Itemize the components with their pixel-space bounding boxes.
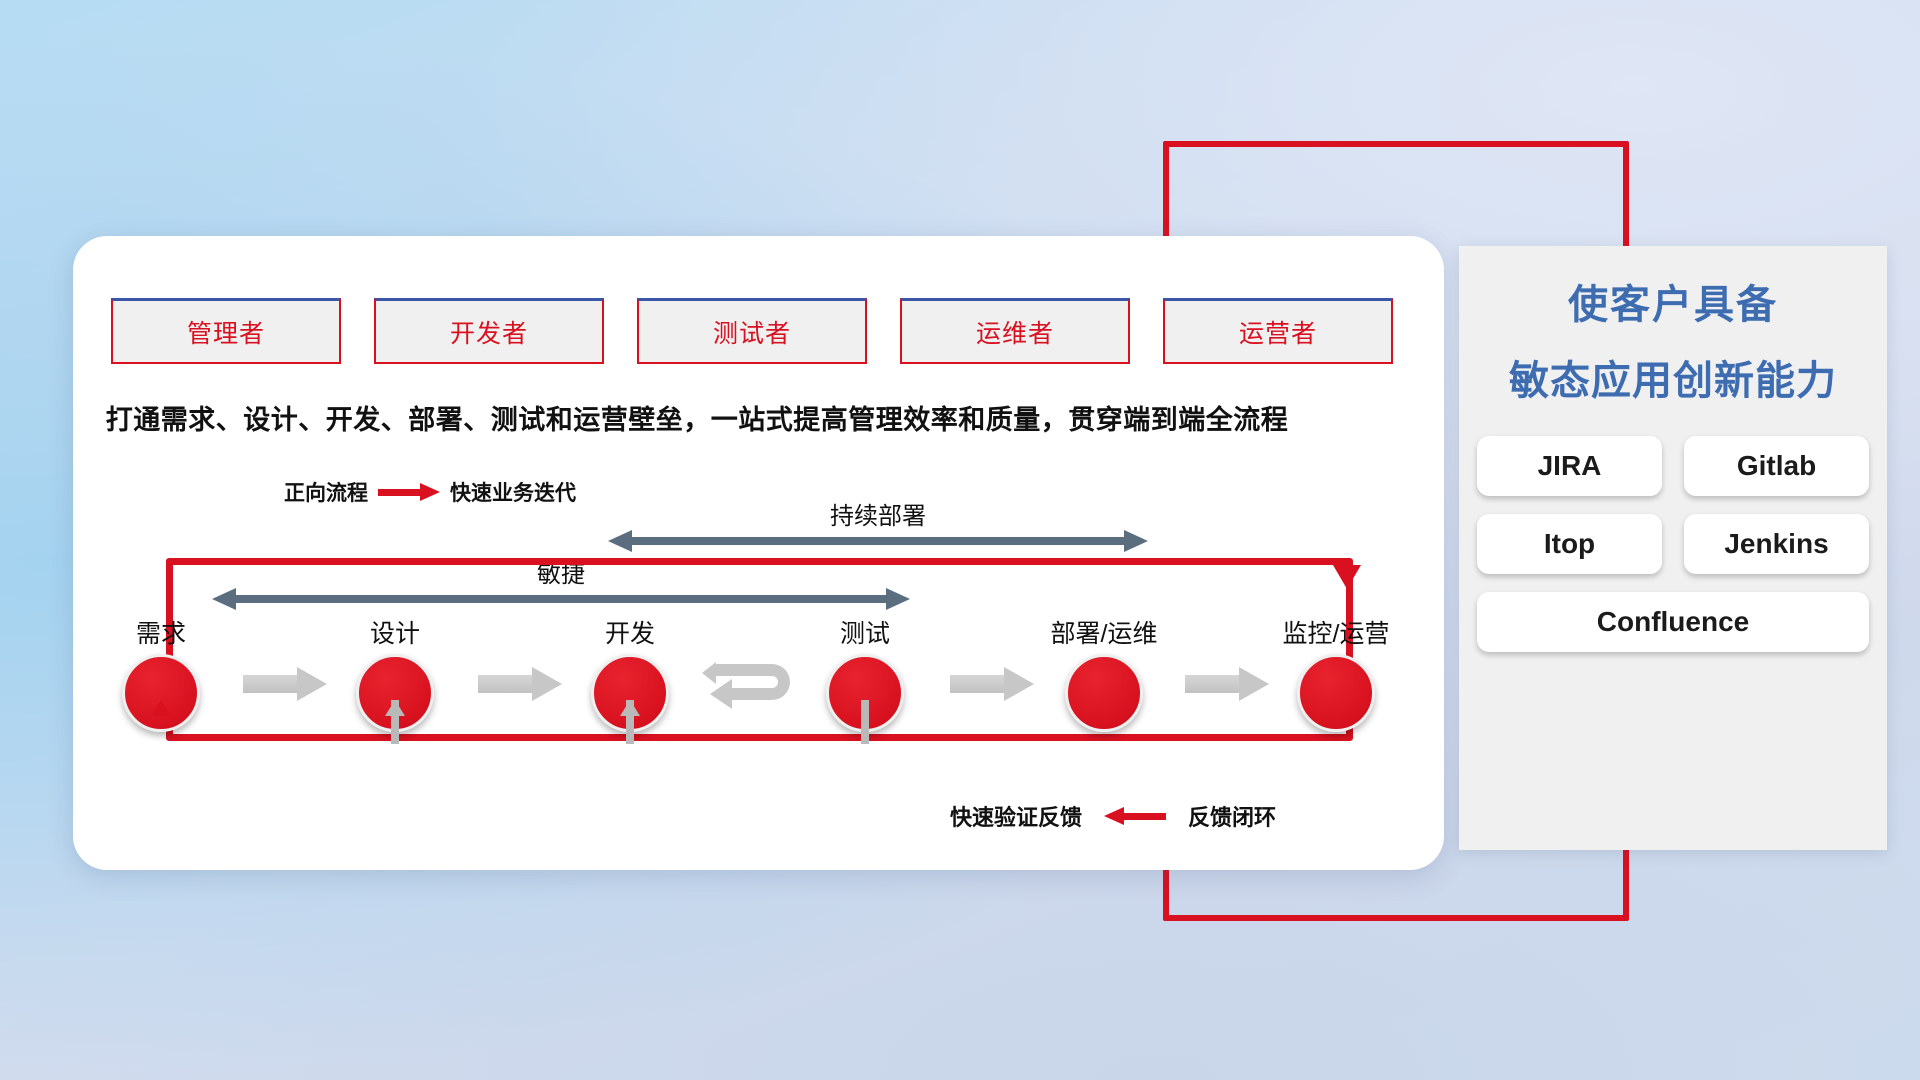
role-box-tester[interactable]: 测试者 bbox=[637, 298, 867, 364]
arrow-right-gray-icon bbox=[243, 668, 327, 700]
loop-arrow-down-icon bbox=[1333, 565, 1361, 589]
role-label: 开发者 bbox=[450, 314, 528, 350]
span-label-continuous-deployment: 持续部署 bbox=[608, 496, 1148, 531]
panel-title-line1: 使客户具备 bbox=[1459, 272, 1887, 330]
role-label: 运维者 bbox=[976, 314, 1054, 350]
tool-chip-itop[interactable]: Itop bbox=[1477, 514, 1662, 574]
tool-chip-jira[interactable]: JIRA bbox=[1477, 436, 1662, 496]
stage-testing[interactable]: 测试 bbox=[790, 614, 940, 732]
role-box-manager[interactable]: 管理者 bbox=[111, 298, 341, 364]
arrow-right-gray-icon bbox=[1185, 668, 1269, 700]
stage-monitor-operations[interactable]: 监控/运营 bbox=[1261, 614, 1411, 732]
tool-chip-jenkins[interactable]: Jenkins bbox=[1684, 514, 1869, 574]
role-box-row: 管理者 开发者 测试者 运维者 运营者 bbox=[111, 298, 1393, 364]
role-label: 运营者 bbox=[1239, 314, 1317, 350]
stage-tick-icon bbox=[385, 700, 405, 716]
stage-dot bbox=[1065, 654, 1143, 732]
headline-text: 打通需求、设计、开发、部署、测试和运营壁垒，一站式提高管理效率和质量，贯穿端到端… bbox=[52, 398, 1342, 437]
panel-title-line2: 敏态应用创新能力 bbox=[1459, 348, 1887, 406]
stage-tick-icon bbox=[620, 700, 640, 716]
stage-label: 部署/运维 bbox=[1029, 614, 1179, 650]
stage-requirements[interactable]: 需求 bbox=[86, 614, 236, 732]
tool-chip-list: JIRA Gitlab Itop Jenkins Confluence bbox=[1459, 436, 1887, 652]
panel-title: 使客户具备 敏态应用创新能力 bbox=[1459, 246, 1887, 406]
role-box-operations[interactable]: 运营者 bbox=[1163, 298, 1393, 364]
stage-dot bbox=[1297, 654, 1375, 732]
stage-label: 监控/运营 bbox=[1261, 614, 1411, 650]
role-label: 管理者 bbox=[187, 314, 265, 350]
stage-label: 测试 bbox=[790, 614, 940, 650]
tool-chip-confluence[interactable]: Confluence bbox=[1477, 592, 1869, 652]
stage-dot bbox=[122, 654, 200, 732]
span-continuous-deployment: 持续部署 bbox=[608, 530, 1148, 552]
legend-feedback-loop: 快速验证反馈 反馈闭环 bbox=[950, 800, 1276, 832]
loop-uturn-gray-icon bbox=[702, 650, 812, 720]
stage-label: 设计 bbox=[320, 614, 470, 650]
legend-forward-right-label: 快速业务迭代 bbox=[450, 477, 576, 507]
double-headed-arrow-icon bbox=[608, 530, 1148, 552]
stage-deploy-ops[interactable]: 部署/运维 bbox=[1029, 614, 1179, 732]
stage-label: 开发 bbox=[555, 614, 705, 650]
legend-feedback-left-label: 快速验证反馈 bbox=[950, 800, 1082, 832]
stage-development[interactable]: 开发 bbox=[555, 614, 705, 732]
stage-tick-icon bbox=[151, 700, 171, 716]
role-box-ops[interactable]: 运维者 bbox=[900, 298, 1130, 364]
main-card: 管理者 开发者 测试者 运维者 运营者 bbox=[73, 236, 1444, 870]
arrow-right-gray-icon bbox=[950, 668, 1034, 700]
stage-label: 需求 bbox=[86, 614, 236, 650]
legend-forward-left-label: 正向流程 bbox=[284, 477, 368, 507]
legend-forward-flow: 正向流程 快速业务迭代 bbox=[284, 477, 576, 507]
tool-chip-gitlab[interactable]: Gitlab bbox=[1684, 436, 1869, 496]
stage-design[interactable]: 设计 bbox=[320, 614, 470, 732]
arrow-right-gray-icon bbox=[478, 668, 562, 700]
role-label: 测试者 bbox=[713, 314, 791, 350]
arrow-right-red-icon bbox=[378, 486, 440, 498]
legend-feedback-right-label: 反馈闭环 bbox=[1188, 800, 1276, 832]
value-panel: 使客户具备 敏态应用创新能力 JIRA Gitlab Itop Jenkins … bbox=[1459, 246, 1887, 850]
role-box-developer[interactable]: 开发者 bbox=[374, 298, 604, 364]
stage-stem bbox=[861, 700, 869, 744]
arrow-left-red-icon bbox=[1104, 810, 1166, 822]
